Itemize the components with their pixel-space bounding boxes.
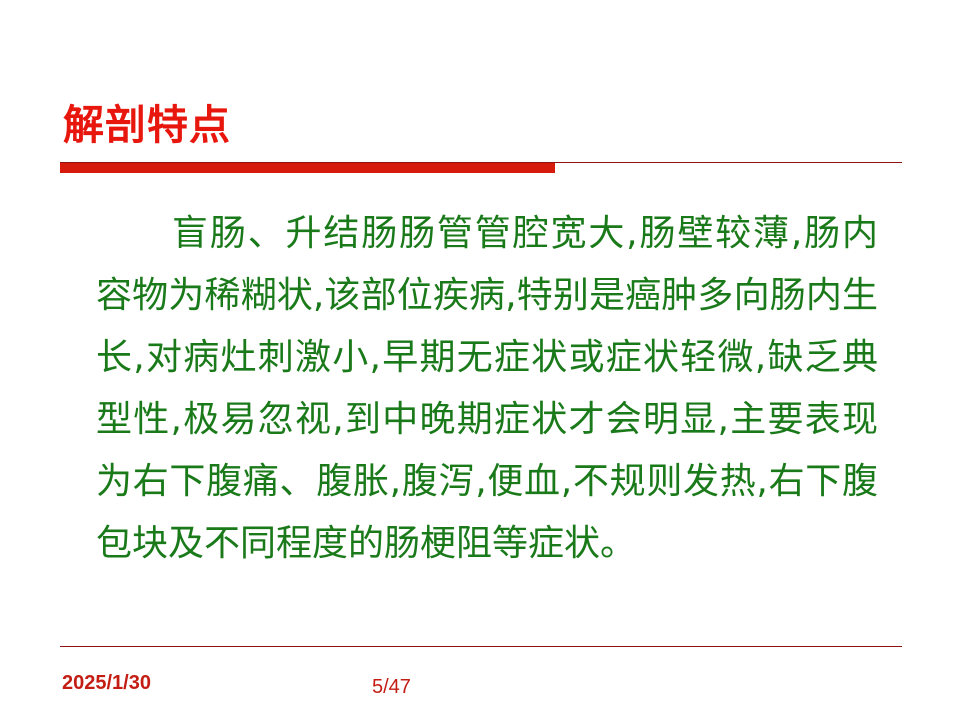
page-title: 解剖特点: [63, 103, 231, 147]
body-paragraph: 盲肠、升结肠肠管管腔宽大,肠壁较薄,肠内容物为稀糊状,该部位疾病,特别是癌肿多向…: [96, 203, 878, 575]
footer-divider: [60, 646, 902, 647]
slide-canvas: 解剖特点 盲肠、升结肠肠管管腔宽大,肠壁较薄,肠内容物为稀糊状,该部位疾病,特别…: [0, 0, 960, 720]
footer-date: 2025/1/30: [62, 672, 151, 695]
title-divider-accent-bar: [60, 163, 555, 173]
footer-page-number: 5/47: [372, 676, 411, 699]
